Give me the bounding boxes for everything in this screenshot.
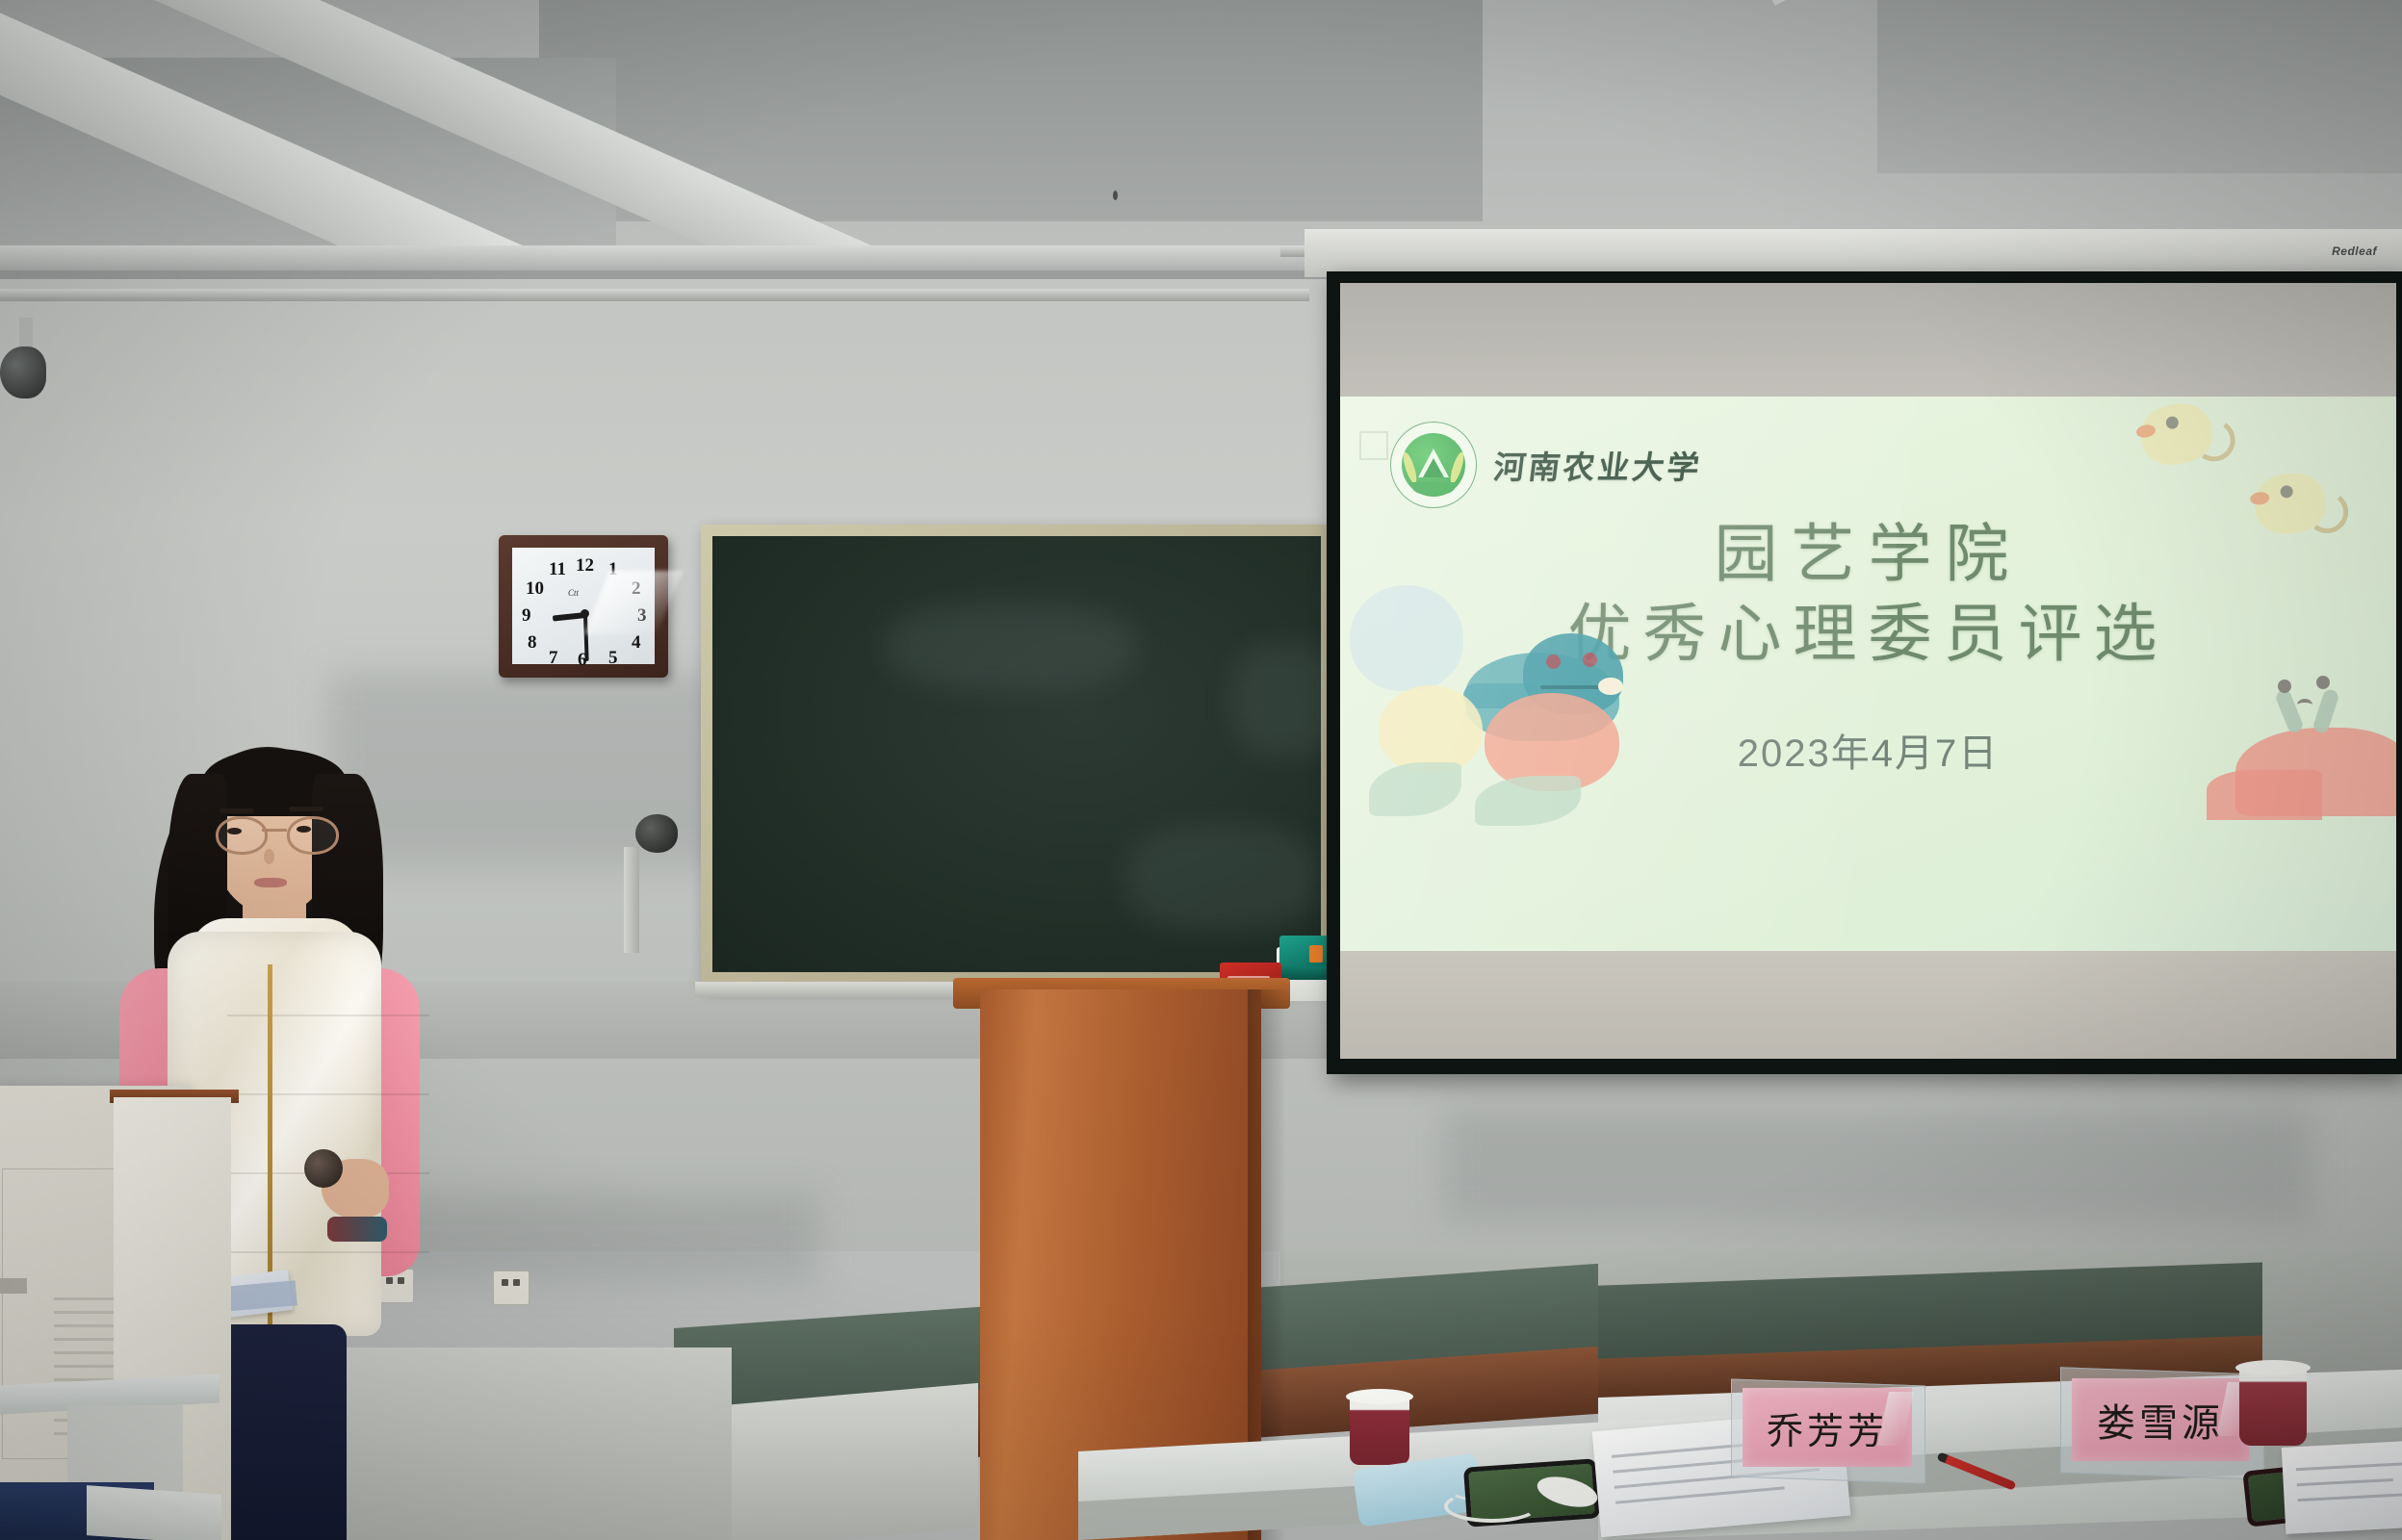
- paper-cup-left: [1350, 1394, 1409, 1465]
- slide-light-sheen: [1340, 397, 1934, 951]
- microphone-icon: [635, 814, 678, 853]
- handheld-microphone-icon: [304, 1149, 343, 1188]
- bunny-ear-left: [2274, 688, 2305, 735]
- chick-beak: [2250, 491, 2270, 505]
- document-line: [2296, 1462, 2402, 1471]
- paper-cup-right: [2239, 1365, 2307, 1446]
- chalkboard-surface: [712, 536, 1321, 972]
- vest-seam: [227, 1093, 429, 1095]
- projection-screen: 河南农业大学 园艺学院 优秀心理委员评选 2023年4月7日: [1327, 271, 2402, 1074]
- cabinet-handle[interactable]: [0, 1278, 27, 1294]
- bunny-nose: [2297, 699, 2312, 711]
- document-stack-right: [2282, 1440, 2402, 1534]
- chalk-smudge: [1126, 825, 1319, 931]
- classroom-presentation-photo: 12 1 2 3 4 5 6 7 8 9 10 11 Ctt: [0, 0, 2402, 1540]
- wall-conduit-left: [0, 289, 1309, 301]
- microphone-stem: [624, 847, 639, 953]
- bunny-eye: [2316, 676, 2330, 689]
- document-line: [2297, 1478, 2393, 1486]
- chick-beak: [2135, 423, 2157, 439]
- clock-glass-glare: [584, 571, 684, 634]
- projector-screen-housing: Redleaf: [1304, 229, 2402, 277]
- document-line: [1615, 1486, 1785, 1503]
- socket-hole: [502, 1279, 508, 1286]
- glasses-lens-right: [287, 816, 339, 855]
- presenter-brow-right: [289, 807, 323, 811]
- clock-brand-mark: Ctt: [568, 588, 579, 598]
- chick-eye: [2165, 416, 2180, 430]
- chalk-box-label: [1309, 945, 1323, 962]
- chick-icon: [2252, 470, 2329, 536]
- bunny-icon: [2262, 674, 2351, 745]
- letterbox-top: [1340, 283, 2396, 397]
- power-socket-left-wall-2: [493, 1270, 529, 1305]
- chick-icon: [2136, 398, 2217, 470]
- glasses-bridge: [262, 829, 287, 832]
- stage-step: [689, 1383, 978, 1540]
- name-plate-2: 娄雪源: [2060, 1367, 2262, 1482]
- presenter-brow-left: [220, 808, 254, 813]
- cup-rim: [1346, 1389, 1413, 1404]
- left-table: [87, 1485, 221, 1540]
- bunny-eye: [2278, 680, 2291, 693]
- name-plate-1: 乔芳芳: [1731, 1378, 1924, 1484]
- chick-tail: [2189, 416, 2238, 465]
- clock-numeral: 5: [608, 648, 618, 669]
- clock-numeral: 10: [526, 578, 544, 600]
- chick-eye: [2280, 485, 2293, 499]
- clock-center-pin: [581, 609, 589, 618]
- clock-numeral: 11: [549, 559, 566, 580]
- earphone-cable: [1444, 1490, 1538, 1523]
- vest-seam: [227, 1251, 429, 1253]
- chalk-smudge: [1232, 642, 1338, 757]
- ceiling-speck: [1113, 191, 1118, 200]
- bunny-ear-right: [2312, 688, 2339, 735]
- glasses-lens-left: [216, 816, 268, 855]
- bunny-base: [2207, 770, 2322, 820]
- chalk-smudge: [886, 603, 1136, 690]
- projector-brand-label: Redleaf: [2332, 244, 2377, 258]
- wall-clock: 12 1 2 3 4 5 6 7 8 9 10 11 Ctt: [499, 535, 668, 678]
- wristwatch-icon: [327, 1217, 387, 1242]
- document-line: [2298, 1493, 2402, 1501]
- clock-numeral: 8: [528, 632, 537, 654]
- clock-numeral: 7: [549, 648, 558, 669]
- presenter-mouth: [254, 878, 287, 887]
- chalkboard: [701, 525, 1330, 985]
- presenter-nose: [264, 849, 274, 864]
- letterbox-bottom: [1340, 951, 2396, 1059]
- security-camera-icon: [0, 346, 46, 398]
- socket-hole: [513, 1279, 520, 1286]
- presentation-slide: 河南农业大学 园艺学院 优秀心理委员评选 2023年4月7日: [1340, 397, 2396, 951]
- clock-numeral: 4: [632, 632, 641, 654]
- presenter-eye-right: [297, 826, 311, 833]
- cup-rim: [2235, 1360, 2311, 1375]
- ceiling-panel-right: [1877, 0, 2402, 173]
- projection-surface: 河南农业大学 园艺学院 优秀心理委员评选 2023年4月7日: [1340, 283, 2396, 1059]
- clock-numeral: 12: [576, 555, 594, 577]
- clock-numeral: 9: [522, 605, 531, 627]
- clock-face: 12 1 2 3 4 5 6 7 8 9 10 11 Ctt: [512, 548, 655, 664]
- wall-stain-2: [1444, 1107, 2311, 1222]
- vest-seam: [227, 1014, 429, 1016]
- presenter-eye-left: [227, 828, 242, 834]
